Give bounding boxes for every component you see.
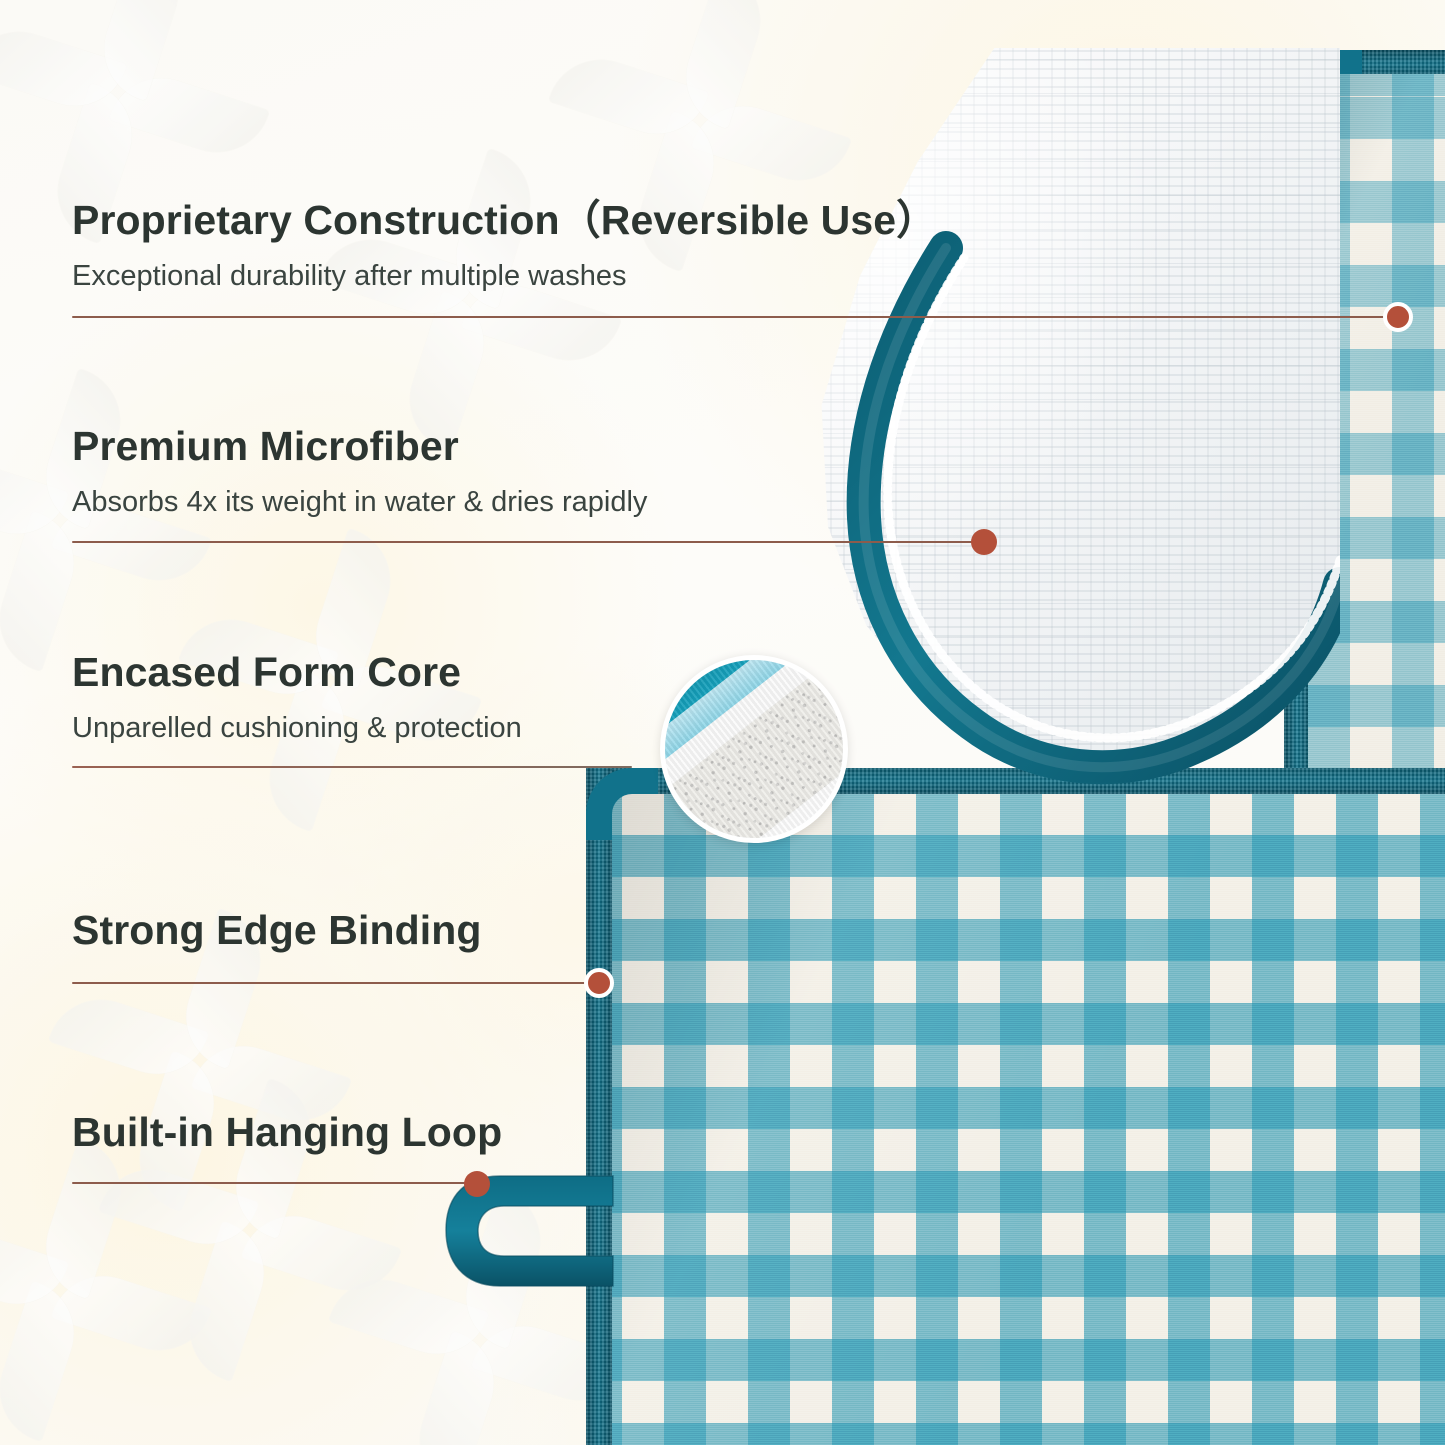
leader-dot-5 — [464, 1171, 490, 1197]
leader-line-4 — [72, 982, 600, 984]
leader-dot-2 — [971, 529, 997, 555]
callout-proprietary-construction[interactable]: Proprietary Construction（Reversible Use）… — [72, 198, 937, 294]
callout-built-in-hanging-loop[interactable]: Built-in Hanging Loop — [72, 1110, 502, 1154]
callout-layer: Proprietary Construction（Reversible Use）… — [0, 0, 1445, 1445]
callout-title: Strong Edge Binding — [72, 908, 482, 952]
leader-line-5 — [72, 1182, 480, 1184]
callout-subtitle: Exceptional durability after multiple wa… — [72, 259, 937, 294]
callout-title: Proprietary Construction（Reversible Use） — [72, 198, 937, 242]
infographic-canvas: Proprietary Construction（Reversible Use）… — [0, 0, 1445, 1445]
leader-line-2 — [72, 541, 984, 543]
callout-title: Encased Form Core — [72, 650, 522, 694]
callout-subtitle: Absorbs 4x its weight in water & dries r… — [72, 485, 647, 520]
callout-premium-microfiber[interactable]: Premium Microfiber Absorbs 4x its weight… — [72, 424, 647, 520]
callout-encased-form-core[interactable]: Encased Form Core Unparelled cushioning … — [72, 650, 522, 746]
callout-title: Built-in Hanging Loop — [72, 1110, 502, 1154]
callout-subtitle: Unparelled cushioning & protection — [72, 711, 522, 746]
callout-strong-edge-binding[interactable]: Strong Edge Binding — [72, 908, 482, 952]
leader-line-1 — [72, 316, 1398, 318]
callout-title: Premium Microfiber — [72, 424, 647, 468]
leader-dot-4 — [584, 968, 614, 998]
leader-line-3 — [72, 766, 632, 768]
leader-dot-1 — [1383, 302, 1413, 332]
